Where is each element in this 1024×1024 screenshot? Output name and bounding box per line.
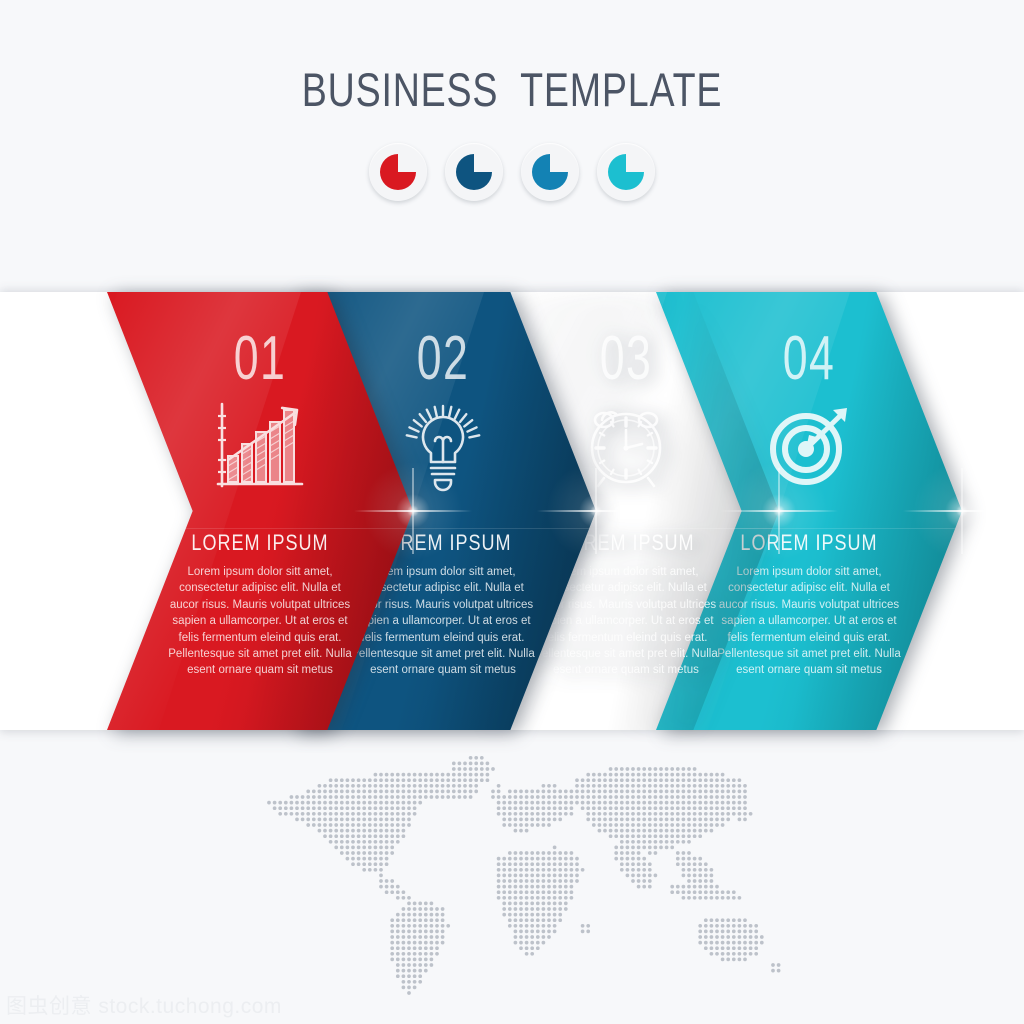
step-number-01: 01: [150, 328, 370, 390]
pie-chart-red-glyph: [378, 152, 418, 192]
pie-chart-navy-glyph: [454, 152, 494, 192]
pie-chart-navy[interactable]: [445, 143, 503, 201]
arrow-panel-01[interactable]: 01LOREM IPSUMLorem ipsum dolor sitt amet…: [107, 292, 413, 730]
panel-body-01: Lorem ipsum dolor sitt amet, consectetur…: [165, 564, 355, 679]
growth-bar-chart-icon: [107, 398, 413, 494]
pie-chart-blue[interactable]: [521, 143, 579, 201]
infographic-canvas: BUSINESS TEMPLATE 01LOREM IPSUMLorem ips…: [0, 0, 1024, 1024]
pie-chart-cyan-glyph: [606, 152, 646, 192]
pie-chart-red[interactable]: [369, 143, 427, 201]
arrow-panel-row: 01LOREM IPSUMLorem ipsum dolor sitt amet…: [0, 292, 1024, 730]
pie-chart-cyan[interactable]: [597, 143, 655, 201]
pie-chart-blue-glyph: [530, 152, 570, 192]
panel-heading-01: LOREM IPSUM: [135, 530, 386, 556]
header-section: BUSINESS TEMPLATE: [0, 0, 1024, 292]
arrow-content: 01LOREM IPSUMLorem ipsum dolor sitt amet…: [107, 292, 413, 730]
watermark: 图虫创意 stock.tuchong.com: [6, 990, 282, 1020]
pie-button-row: [0, 143, 1024, 201]
page-title: BUSINESS TEMPLATE: [102, 62, 921, 117]
dotted-world-map: [237, 737, 797, 1007]
